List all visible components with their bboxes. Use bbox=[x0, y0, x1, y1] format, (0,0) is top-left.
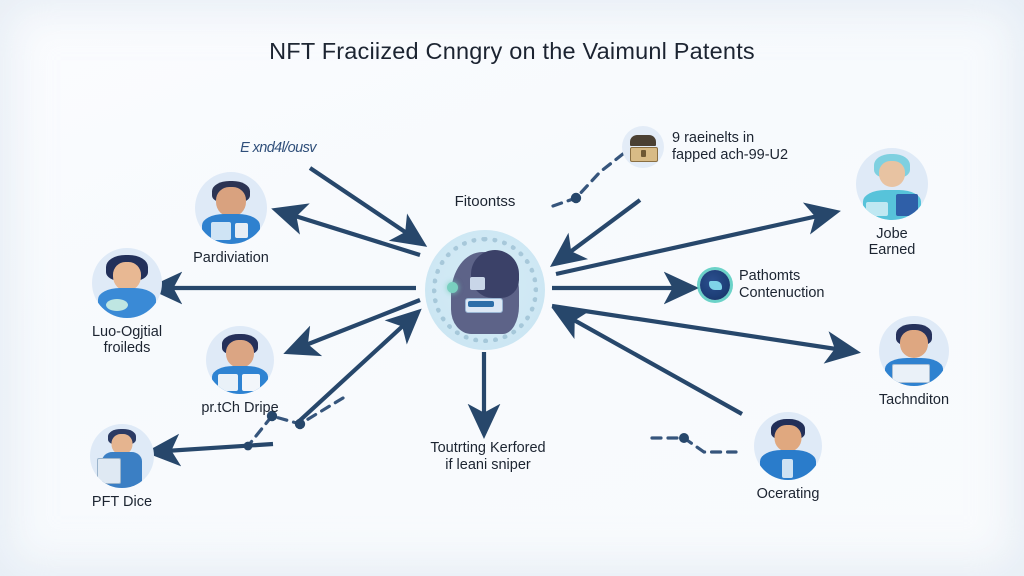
progress-bar-icon bbox=[465, 298, 503, 313]
diagram-canvas: NFT Fraciized Cnngry on the Vaimunl Pate… bbox=[0, 0, 1024, 576]
node-jobe-earned[interactable]: Jobe Earned bbox=[845, 148, 939, 258]
hub-label: Fitoontss bbox=[420, 193, 550, 210]
avatar bbox=[879, 316, 949, 386]
avatar bbox=[206, 326, 274, 394]
bottom-note-label: Toutrting Kerfored if leani sniper bbox=[384, 440, 592, 473]
hair-shape bbox=[471, 250, 519, 298]
edge-hub-to-pardiviation bbox=[276, 210, 420, 255]
node-luo-ogjtial-froileds[interactable]: Luo-Ogjtial froileds bbox=[72, 248, 182, 356]
edge-hub-to-jobe-earned bbox=[556, 212, 836, 274]
node-pft-dice[interactable]: PFT Dice bbox=[76, 424, 168, 510]
node-prtch-dripe[interactable]: pr.tCh Dripe bbox=[190, 326, 290, 416]
hub-node[interactable] bbox=[425, 230, 545, 350]
node-label: Ocerating bbox=[757, 486, 820, 502]
node-label: Luo-Ogjtial froileds bbox=[92, 324, 162, 356]
avatar bbox=[90, 424, 154, 488]
edge-hub-to-tachnditon bbox=[552, 306, 856, 352]
edge-lowleft-to-hub bbox=[296, 312, 418, 424]
treasure-chest-icon bbox=[622, 126, 664, 168]
avatar bbox=[195, 172, 267, 244]
node-ocerating[interactable]: Ocerating bbox=[742, 412, 834, 502]
chest-note-text: 9 raeinelts in fapped ach-99-U2 bbox=[672, 130, 788, 165]
node-label: Jobe Earned bbox=[869, 226, 916, 258]
node-label: pr.tCh Dripe bbox=[201, 400, 278, 416]
chip-icon bbox=[470, 277, 485, 290]
node-label: PFT Dice bbox=[92, 494, 152, 510]
glitch-label: E xnd4l/ousv bbox=[208, 140, 348, 157]
node-label: Pathomts Contenuction bbox=[739, 268, 824, 301]
edge-chest-to-hub bbox=[554, 200, 640, 264]
eye-glow-icon bbox=[447, 282, 458, 293]
edge-dotted-ocerating-link bbox=[652, 438, 736, 452]
node-tachnditon[interactable]: Tachnditon bbox=[862, 316, 966, 408]
edge-glitch-to-hub bbox=[310, 168, 423, 244]
node-label: Tachnditon bbox=[879, 392, 949, 408]
avatar bbox=[856, 148, 928, 220]
edge-to-pft-dice bbox=[150, 444, 273, 452]
edge-dotted-chest-link bbox=[553, 150, 628, 206]
edge-ocerating-to-hub bbox=[556, 310, 742, 414]
chest-note[interactable]: 9 raeinelts in fapped ach-99-U2 bbox=[622, 126, 788, 168]
node-pathomts-contenuction[interactable]: Pathomts Contenuction bbox=[700, 268, 824, 301]
node-pardiviation[interactable]: Pardiviation bbox=[185, 172, 277, 266]
orb-icon bbox=[700, 270, 730, 300]
node-label: Pardiviation bbox=[193, 250, 269, 266]
avatar bbox=[92, 248, 162, 318]
avatar bbox=[754, 412, 822, 480]
